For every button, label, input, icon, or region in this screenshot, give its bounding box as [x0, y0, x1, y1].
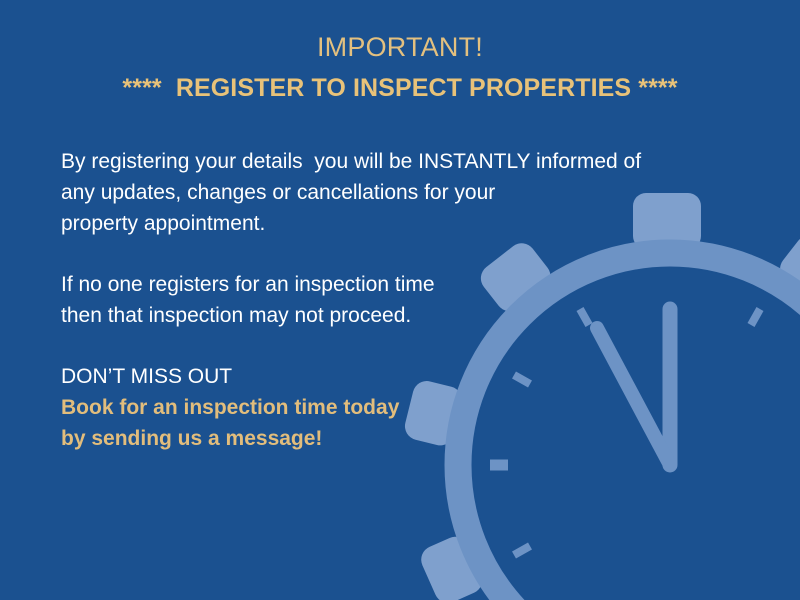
body-block: By registering your details you will be …: [61, 146, 721, 454]
headline-important: IMPORTANT!: [0, 30, 800, 64]
cta-dont-miss-out: DON’T MISS OUT: [61, 361, 721, 392]
cta-send-message: by sending us a message!: [61, 423, 721, 454]
headline-register-to-inspect: **** REGISTER TO INSPECT PROPERTIES ****: [0, 71, 800, 105]
headline-block: IMPORTANT! **** REGISTER TO INSPECT PROP…: [0, 30, 800, 105]
paragraph-registering-details: By registering your details you will be …: [61, 146, 721, 239]
cta-book-inspection: Book for an inspection time today: [61, 392, 721, 423]
poster-text-layer: IMPORTANT! **** REGISTER TO INSPECT PROP…: [0, 0, 800, 600]
paragraph-no-registration-warning: If no one registers for an inspection ti…: [61, 269, 721, 331]
cta-spacer: [61, 331, 721, 361]
poster-canvas: IMPORTANT! **** REGISTER TO INSPECT PROP…: [0, 0, 800, 600]
paragraph-spacer: [61, 239, 721, 269]
